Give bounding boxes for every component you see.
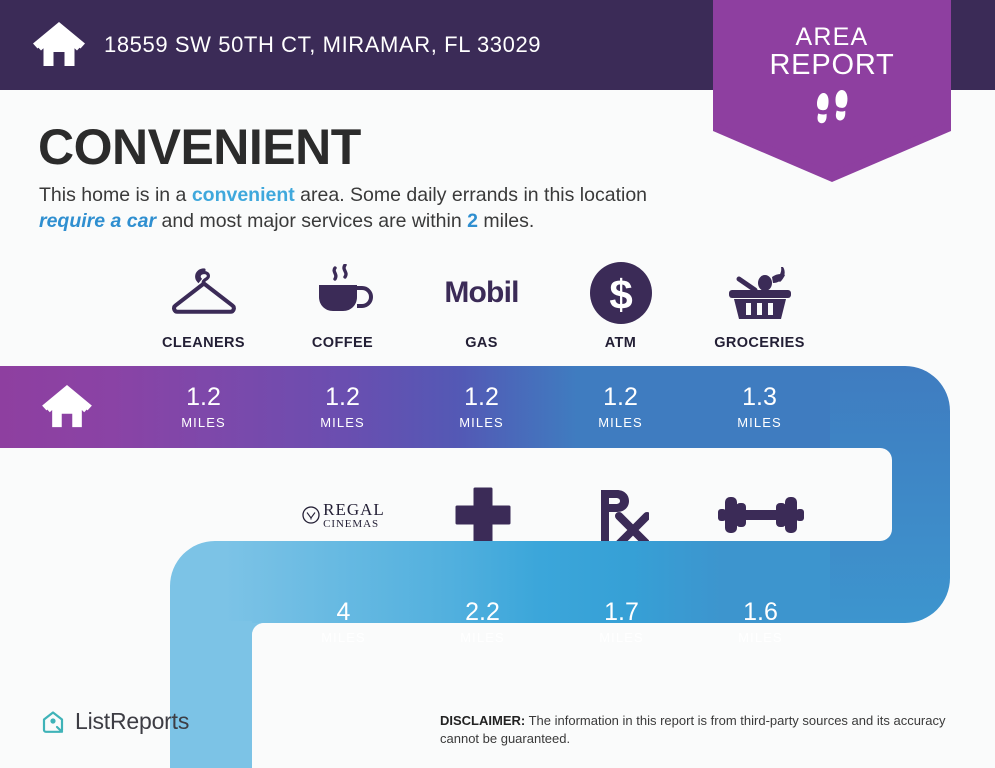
- hanger-icon: [170, 262, 238, 324]
- distance-unit: MILES: [738, 630, 783, 645]
- footprints-icon: [809, 90, 855, 134]
- distance-unit: MILES: [459, 415, 504, 430]
- description-highlight-miles: 2: [467, 210, 478, 232]
- coffee-cup-icon: [311, 262, 375, 324]
- area-report-page: 18559 SW 50TH CT, MIRAMAR, FL 33029 AREA…: [0, 0, 995, 768]
- distance-value: 2.2: [465, 600, 500, 625]
- distance-unit: MILES: [320, 415, 365, 430]
- distance-row-2: 4 MILES 2.2 MILES 1.7 MILES 1.6 MILES: [274, 581, 830, 663]
- distance-cell-cleaners: 1.2 MILES: [134, 366, 273, 448]
- distance-cell-movie-theater: 4 MILES: [274, 581, 413, 663]
- distance-cell-gas: 1.2 MILES: [412, 366, 551, 448]
- distance-value: 1.7: [604, 600, 639, 625]
- listreports-house-tag-icon: [40, 709, 66, 735]
- distance-value: 1.2: [186, 385, 221, 410]
- description-highlight-require-car: require a car: [39, 210, 156, 232]
- distance-unit: MILES: [599, 630, 644, 645]
- distance-value: 1.2: [464, 385, 499, 410]
- distance-value: 4: [337, 600, 351, 625]
- service-gas: Mobil GAS: [412, 262, 551, 351]
- distance-value: 1.2: [603, 385, 638, 410]
- mobil-logo: Mobil: [444, 262, 518, 324]
- svg-text:$: $: [609, 271, 632, 318]
- distance-row-1: 1.2 MILES 1.2 MILES 1.2 MILES 1.2 MILES …: [0, 366, 829, 448]
- distance-unit: MILES: [181, 415, 226, 430]
- description-part-3: and most major services are within: [156, 210, 467, 232]
- service-label: COFFEE: [312, 335, 373, 351]
- distance-value: 1.2: [325, 385, 360, 410]
- page-title: CONVENIENT: [38, 118, 361, 176]
- description-part-4: miles.: [478, 210, 534, 232]
- header-address: 18559 SW 50TH CT, MIRAMAR, FL 33029: [104, 32, 541, 58]
- service-label: GAS: [465, 335, 498, 351]
- distance-cell-atm: 1.2 MILES: [551, 366, 690, 448]
- badge-line-2: REPORT: [769, 50, 894, 80]
- distance-unit: MILES: [460, 630, 505, 645]
- mobil-wordmark: Mobil: [444, 276, 518, 310]
- service-label: GROCERIES: [714, 335, 805, 351]
- distance-value: 1.3: [742, 385, 777, 410]
- distance-cell-groceries: 1.3 MILES: [690, 366, 829, 448]
- service-groceries: GROCERIES: [690, 262, 829, 351]
- house-icon: [33, 22, 85, 68]
- house-icon: [42, 385, 92, 429]
- dollar-circle-icon: $: [590, 262, 652, 324]
- service-atm: $ ATM: [551, 262, 690, 351]
- service-label: CLEANERS: [162, 335, 245, 351]
- grocery-basket-icon: [725, 262, 795, 324]
- distance-unit: MILES: [321, 630, 366, 645]
- home-marker-cell: [0, 366, 134, 448]
- service-coffee: COFFEE: [273, 262, 412, 351]
- service-cleaners: CLEANERS: [134, 262, 273, 351]
- distance-cell-gym: 1.6 MILES: [691, 581, 830, 663]
- page-description: This home is in a convenient area. Some …: [39, 182, 699, 235]
- distance-unit: MILES: [598, 415, 643, 430]
- distance-unit: MILES: [737, 415, 782, 430]
- disclaimer: DISCLAIMER: The information in this repo…: [440, 712, 985, 749]
- disclaimer-label: DISCLAIMER:: [440, 713, 525, 728]
- distance-cell-medical: 2.2 MILES: [413, 581, 552, 663]
- distance-cell-coffee: 1.2 MILES: [273, 366, 412, 448]
- description-highlight-convenient: convenient: [192, 184, 295, 206]
- badge-line-1: AREA: [796, 24, 869, 50]
- listreports-wordmark: ListReports: [75, 708, 189, 735]
- description-part-1: This home is in a: [39, 184, 192, 206]
- distance-value: 1.6: [743, 600, 778, 625]
- service-label: ATM: [605, 335, 637, 351]
- icon-row-1: CLEANERS COFFEE Mobil GAS $: [0, 262, 995, 351]
- description-part-2: area. Some daily errands in this locatio…: [295, 184, 647, 206]
- distance-cell-pharmacy: 1.7 MILES: [552, 581, 691, 663]
- listreports-logo: ListReports: [40, 708, 189, 735]
